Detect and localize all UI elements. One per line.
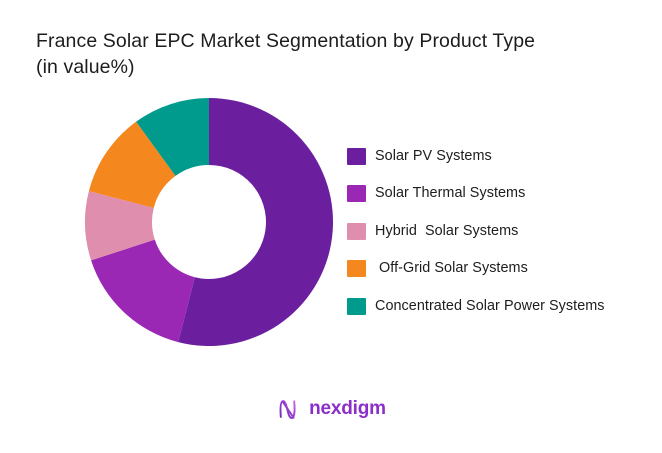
chart-legend: Solar PV Systems Solar Thermal Systems H… — [347, 139, 647, 327]
legend-swatch-solar-pv-systems — [347, 148, 366, 165]
legend-swatch-solar-thermal-systems — [347, 185, 366, 202]
brand-logo: nexdigm — [0, 396, 662, 422]
legend-label-solar-thermal-systems: Solar Thermal Systems — [375, 185, 525, 202]
legend-swatch-hybrid-solar-systems — [347, 223, 366, 240]
slide-canvas: France Solar EPC Market Segmentation by … — [0, 0, 662, 453]
legend-item-off-grid-solar-systems[interactable]: Off-Grid Solar Systems — [347, 252, 647, 286]
legend-item-solar-thermal-systems[interactable]: Solar Thermal Systems — [347, 177, 647, 211]
nexdigm-n-logo-icon — [276, 396, 302, 422]
legend-swatch-concentrated-solar-power-systems — [347, 298, 366, 315]
legend-label-off-grid-solar-systems: Off-Grid Solar Systems — [375, 260, 528, 277]
legend-item-solar-pv-systems[interactable]: Solar PV Systems — [347, 139, 647, 173]
legend-swatch-off-grid-solar-systems — [347, 260, 366, 277]
donut-chart — [84, 97, 334, 347]
legend-item-concentrated-solar-power-systems[interactable]: Concentrated Solar Power Systems — [347, 289, 647, 323]
legend-label-hybrid-solar-systems: Hybrid Solar Systems — [375, 223, 518, 240]
legend-label-concentrated-solar-power-systems: Concentrated Solar Power Systems — [375, 298, 605, 315]
legend-label-solar-pv-systems: Solar PV Systems — [375, 148, 492, 165]
donut-chart-svg — [84, 97, 334, 347]
brand-name: nexdigm — [309, 396, 386, 422]
page-title: France Solar EPC Market Segmentation by … — [36, 28, 616, 80]
donut-slice-group — [85, 98, 333, 346]
legend-item-hybrid-solar-systems[interactable]: Hybrid Solar Systems — [347, 214, 647, 248]
